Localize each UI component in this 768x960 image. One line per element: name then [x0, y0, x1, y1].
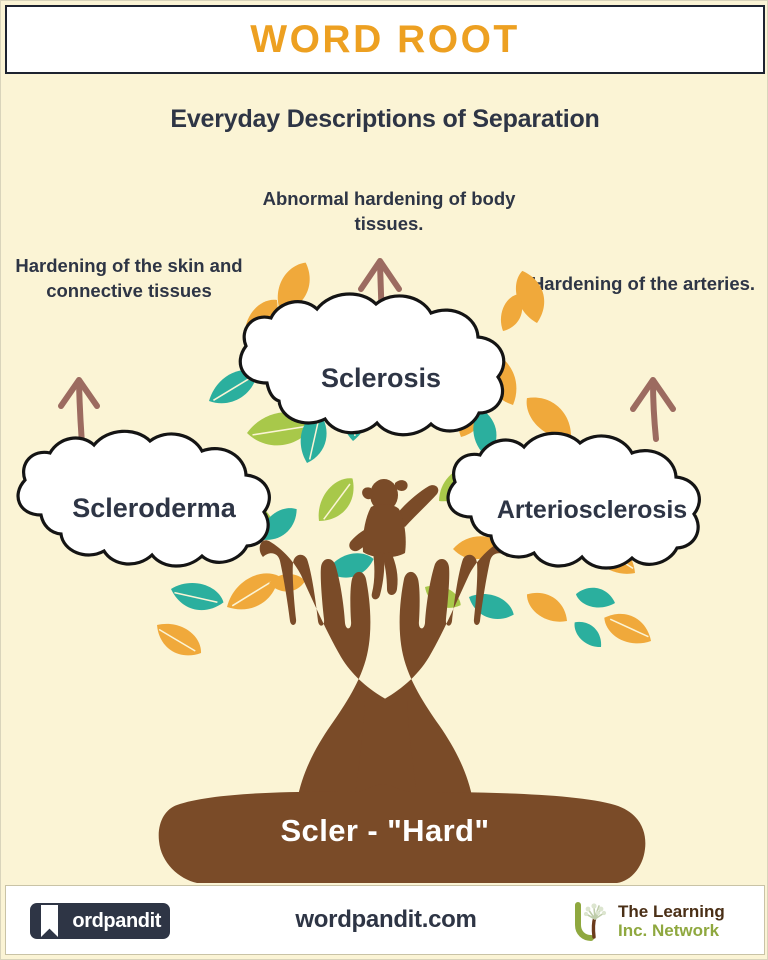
leaf: [311, 471, 363, 530]
callout-sclerosis-description: Abnormal hardening of body tissues.: [229, 186, 549, 236]
footer-bar: wordpandit.com ordpandit The Lea: [5, 885, 765, 955]
cloud-label-scleroderma: Scleroderma: [23, 493, 285, 524]
cloud-label-sclerosis: Sclerosis: [251, 363, 511, 394]
foliage-leaves: [150, 257, 657, 664]
leaf: [268, 572, 306, 593]
cloud-label-arteriosclerosis: Arteriosclerosis: [453, 496, 731, 525]
header-bar: WORD ROOT: [5, 5, 765, 74]
leaf: [324, 547, 377, 583]
page-title: WORD ROOT: [250, 18, 519, 62]
leaf: [168, 579, 226, 614]
leaf: [517, 388, 581, 448]
leaf: [220, 564, 286, 621]
learning-network-logo[interactable]: The Learning Inc. Network: [570, 898, 742, 944]
arrow-up-center-icon: [361, 261, 399, 319]
tree-hands-trunk: [260, 540, 511, 813]
child-silhouette-icon: [349, 479, 438, 599]
leaf: [160, 524, 213, 562]
leaf: [452, 533, 503, 562]
callout-arteriosclerosis-description: Hardening of the arteries.: [521, 271, 765, 296]
learning-tree-icon: [570, 899, 614, 943]
leaf: [150, 616, 208, 663]
leaf: [583, 532, 643, 582]
wordpandit-logo-text: ordpandit: [72, 910, 161, 933]
leaf: [270, 257, 317, 319]
arrow-up-right-icon: [633, 380, 673, 439]
leaf: [496, 291, 528, 335]
arrow-up-left-icon: [61, 380, 97, 456]
partner-name-line2: Inc. Network: [618, 921, 725, 940]
infographic-page: WORD ROOT Everyday Descriptions of Separ…: [0, 0, 768, 960]
leaf: [574, 585, 617, 611]
subtitle: Everyday Descriptions of Separation: [1, 105, 768, 134]
leaf: [599, 607, 657, 651]
leaf: [465, 588, 518, 624]
left-hand-icon: [260, 540, 389, 801]
right-hand-icon: [381, 540, 510, 801]
callout-scleroderma-description: Hardening of the skin and connective tis…: [5, 253, 253, 303]
tree-trunk: [353, 701, 419, 813]
partner-name-line1: The Learning: [618, 902, 725, 921]
leaf: [279, 291, 300, 332]
bookmark-icon: [41, 905, 58, 937]
leaf: [297, 410, 331, 466]
leaf: [470, 407, 501, 458]
root-word-label: Scler - "Hard": [1, 813, 768, 849]
leaf: [521, 585, 574, 629]
leaf: [244, 406, 317, 452]
leaf: [420, 580, 464, 614]
leaf: [569, 616, 608, 652]
wordpandit-logo[interactable]: ordpandit: [30, 903, 170, 939]
leaf: [552, 439, 605, 483]
learning-network-text: The Learning Inc. Network: [618, 902, 725, 941]
